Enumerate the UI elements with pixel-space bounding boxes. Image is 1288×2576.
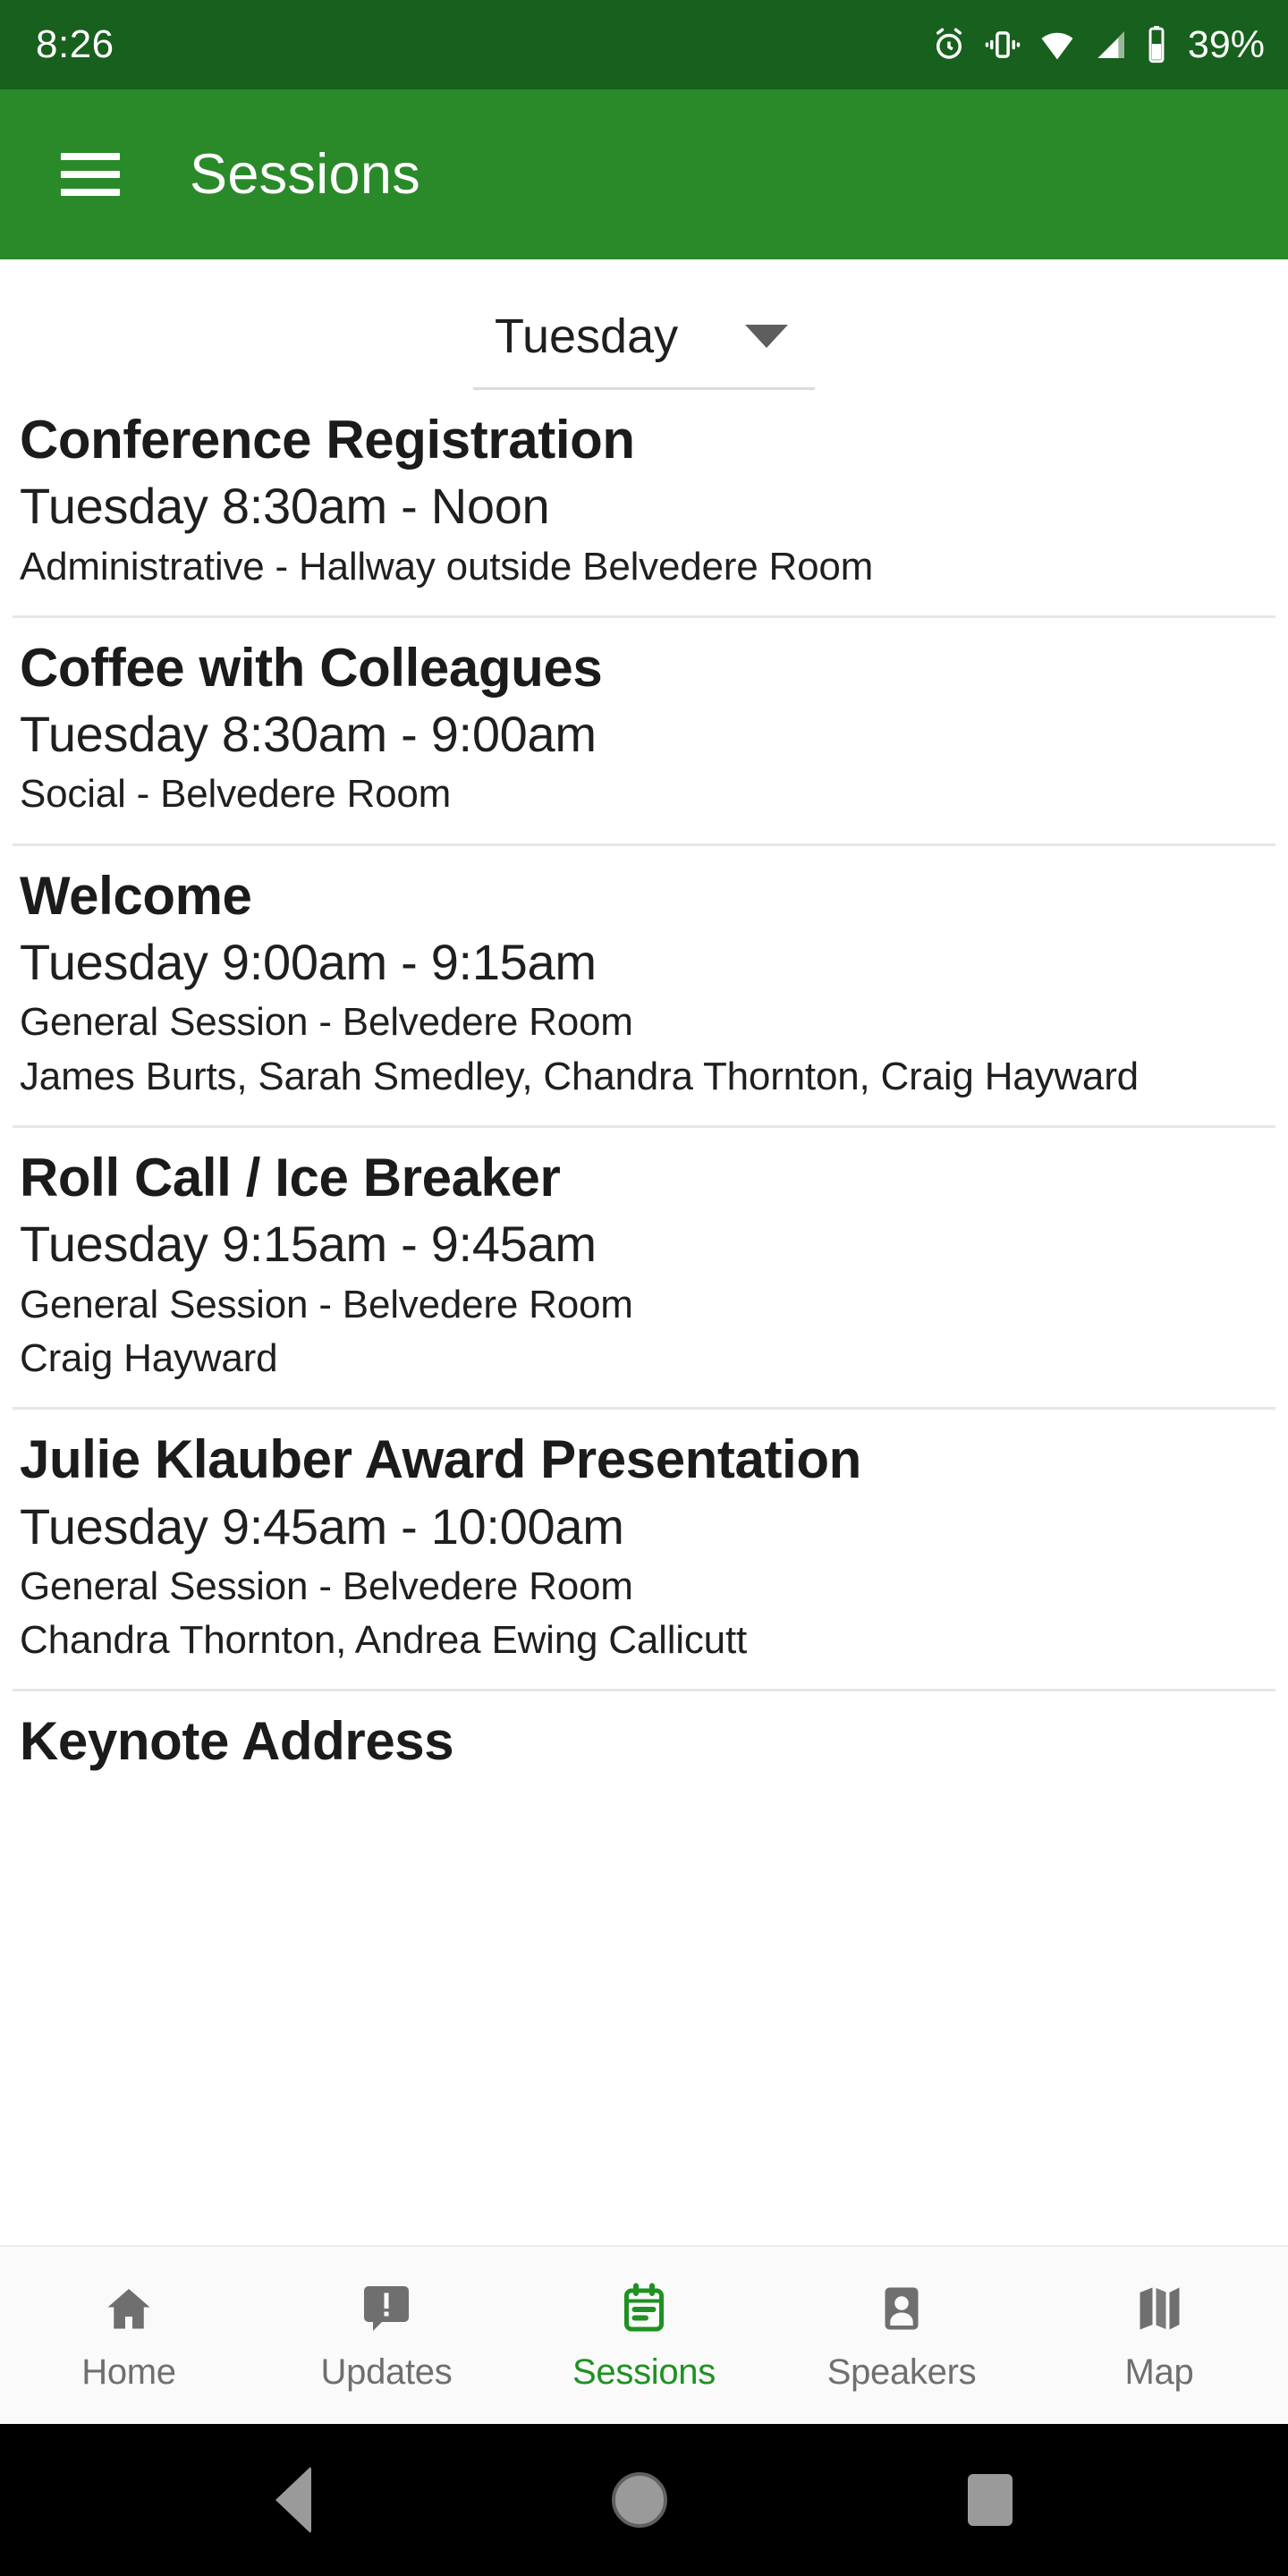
nav-item-speakers[interactable]: Speakers [773, 2279, 1030, 2393]
nav-label-speakers: Speakers [827, 2352, 977, 2393]
session-speakers: James Burts, Sarah Smedley, Chandra Thor… [20, 1052, 1268, 1102]
session-title: Julie Klauber Award Presentation [20, 1429, 1268, 1490]
nav-item-map[interactable]: Map [1030, 2279, 1288, 2393]
session-time: Tuesday 9:45am - 10:00am [20, 1496, 1268, 1556]
home-icon [102, 2279, 156, 2338]
list-item[interactable]: Coffee with Colleagues Tuesday 8:30am - … [0, 618, 1288, 843]
battery-percent-label: 39% [1188, 26, 1265, 64]
list-item[interactable]: Conference Registration Tuesday 8:30am -… [0, 390, 1288, 615]
sessions-content: Tuesday Conference Registration Tuesday … [0, 259, 1288, 2424]
list-item[interactable]: Keynote Address [0, 1691, 1288, 1795]
app-screen: 8:26 [0, 0, 1288, 2576]
bottom-navigation: Home Updates [0, 2245, 1288, 2424]
nav-label-home: Home [81, 2352, 176, 2393]
nav-label-map: Map [1125, 2352, 1194, 2393]
session-meta: General Session - Belvedere Room [20, 1280, 1268, 1330]
cell-signal-icon [1093, 27, 1129, 63]
day-spinner-value: Tuesday [495, 309, 678, 364]
contact-card-icon [875, 2279, 928, 2338]
session-time: Tuesday 9:00am - 9:15am [20, 932, 1268, 992]
session-title: Welcome [20, 866, 1268, 927]
day-selector-row: Tuesday [0, 259, 1288, 390]
home-circle-icon[interactable] [612, 2472, 667, 2528]
session-meta: Administrative - Hallway outside Belvede… [20, 542, 1268, 592]
vibrate-icon [984, 26, 1021, 64]
chevron-down-icon [745, 325, 788, 348]
session-time: Tuesday 9:15am - 9:45am [20, 1214, 1268, 1274]
session-meta: General Session - Belvedere Room [20, 1562, 1268, 1612]
status-clock: 8:26 [36, 25, 114, 64]
nav-item-home[interactable]: Home [0, 2279, 258, 2393]
session-title: Roll Call / Ice Breaker [20, 1148, 1268, 1208]
hamburger-menu-icon[interactable] [61, 153, 120, 196]
wifi-icon [1038, 25, 1077, 64]
map-icon [1132, 2279, 1186, 2338]
recents-square-icon[interactable] [968, 2474, 1013, 2526]
page-title: Sessions [190, 142, 420, 207]
session-time: Tuesday 8:30am - Noon [20, 476, 1268, 536]
battery-icon [1145, 25, 1168, 64]
nav-item-updates[interactable]: Updates [258, 2279, 515, 2393]
announcement-icon [360, 2279, 413, 2338]
day-spinner[interactable]: Tuesday [473, 309, 815, 390]
list-item[interactable]: Julie Klauber Award Presentation Tuesday… [0, 1410, 1288, 1689]
session-meta: Social - Belvedere Room [20, 769, 1268, 819]
session-speakers: Chandra Thornton, Andrea Ewing Callicutt [20, 1615, 1268, 1665]
alarm-icon [930, 26, 968, 64]
session-speakers: Craig Hayward [20, 1334, 1268, 1384]
back-triangle-icon[interactable] [275, 2466, 311, 2534]
session-title: Coffee with Colleagues [20, 638, 1268, 699]
list-item[interactable]: Welcome Tuesday 9:00am - 9:15am General … [0, 846, 1288, 1125]
calendar-agenda-icon [617, 2279, 671, 2338]
nav-label-sessions: Sessions [572, 2352, 716, 2393]
session-title: Conference Registration [20, 410, 1268, 470]
list-item[interactable]: Roll Call / Ice Breaker Tuesday 9:15am -… [0, 1128, 1288, 1407]
status-bar: 8:26 [0, 0, 1288, 89]
android-navigation-bar [0, 2424, 1288, 2576]
session-time: Tuesday 8:30am - 9:00am [20, 704, 1268, 764]
app-bar: Sessions [0, 89, 1288, 259]
nav-item-sessions[interactable]: Sessions [515, 2279, 773, 2393]
session-list: Conference Registration Tuesday 8:30am -… [0, 390, 1288, 1796]
nav-label-updates: Updates [321, 2352, 453, 2393]
status-icon-tray: 39% [930, 25, 1265, 64]
session-title: Keynote Address [20, 1711, 1268, 1772]
session-meta: General Session - Belvedere Room [20, 997, 1268, 1047]
